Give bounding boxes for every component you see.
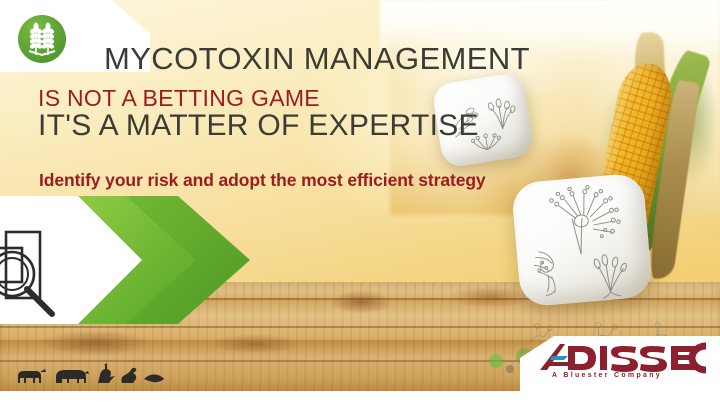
subheadline: Identify your risk and adopt the most ef… (39, 170, 486, 191)
magnifier-analysis-icon (0, 216, 124, 326)
headline-line-3: IT'S A MATTER OF EXPERTISE (38, 109, 479, 143)
adisseo-wordmark (538, 342, 706, 374)
die-large (511, 172, 653, 307)
mycotoxin-management-banner: MYCOTOXIN MANAGEMENT IS NOT A BETTING GA… (0, 0, 720, 405)
wheat-stalks-icon (18, 15, 66, 63)
headline-line-1: MYCOTOXIN MANAGEMENT (104, 41, 530, 77)
adisseo-logo-panel: A Bluester Company (520, 336, 720, 392)
adisseo-tagline: A Bluester Company (552, 372, 662, 379)
animal-species-icons (14, 361, 164, 387)
bottom-white-strip (0, 391, 720, 405)
analysis-arrow-graphic (0, 196, 250, 324)
headline-line-2: IS NOT A BETTING GAME (38, 85, 320, 112)
